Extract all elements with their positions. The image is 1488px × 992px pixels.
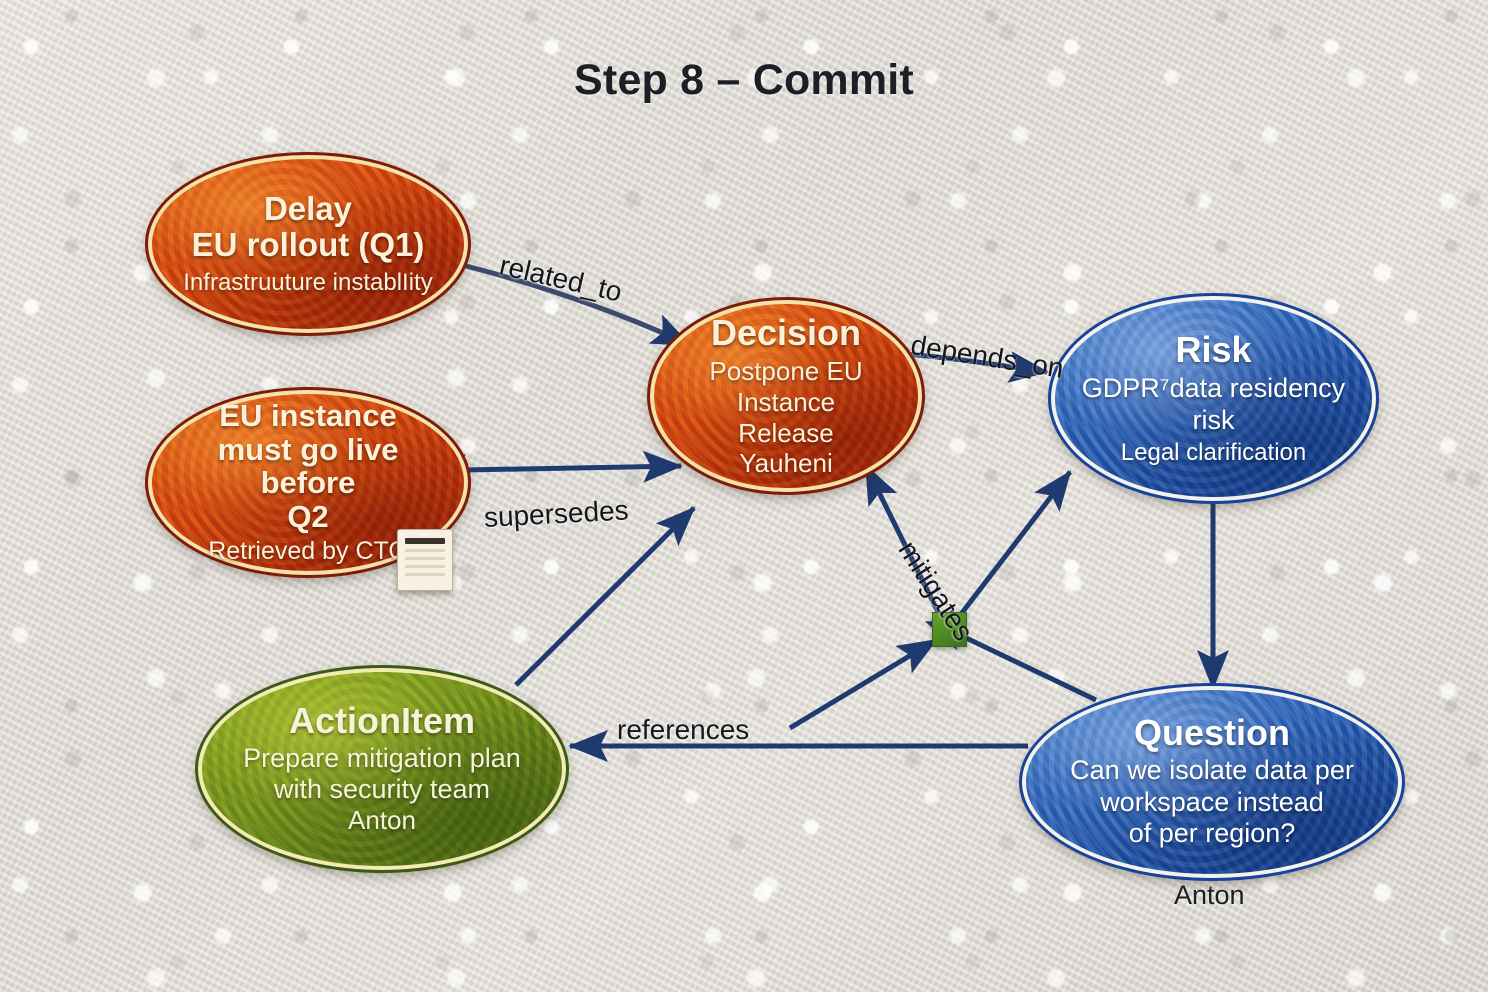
page-title: Step 8 – Commit	[0, 56, 1488, 105]
diagram-canvas: Step 8 – Commit Delay EU rollout (Q1) In…	[0, 0, 1488, 992]
edge-hub-risk	[958, 472, 1070, 618]
edge-label-references: references	[617, 714, 749, 746]
node-eu-instance-title-line2: must go live before	[168, 433, 448, 500]
node-risk-title: Risk	[1175, 331, 1251, 370]
node-action-item-body-line1: Prepare mitigation plan	[243, 743, 521, 775]
node-question-title: Question	[1134, 714, 1290, 753]
document-icon-line	[405, 573, 445, 576]
document-icon-line	[405, 557, 445, 560]
node-risk[interactable]: Risk GDPR⁷data residency risk Legal clar…	[1051, 296, 1376, 501]
node-decision[interactable]: Decision Postpone EU Instance Release Ya…	[650, 300, 922, 492]
node-question-body-line1: Can we isolate data per	[1070, 755, 1354, 787]
document-icon-line	[405, 538, 445, 544]
node-eu-instance-title-line3: Q2	[287, 500, 328, 533]
node-delay-title-line1: Delay	[264, 191, 352, 227]
node-question-caption: Anton	[1174, 880, 1245, 911]
node-risk-body-line1: GDPR⁷data residency	[1082, 373, 1345, 405]
edge-actionitem-hub	[790, 640, 936, 728]
document-icon-line	[405, 565, 445, 568]
node-action-item-body-line2: with security team	[274, 774, 490, 806]
node-decision-meta: Yauheni	[739, 449, 833, 479]
node-delay[interactable]: Delay EU rollout (Q1) Infrastruuture ins…	[148, 155, 468, 333]
node-action-item-meta: Anton	[348, 806, 416, 836]
node-action-item[interactable]: ActionItem Prepare mitigation plan with …	[198, 668, 566, 870]
edge-actionitem-decision	[516, 508, 694, 685]
node-eu-instance-title-line1: EU instance	[219, 399, 396, 432]
document-icon-line	[405, 549, 445, 552]
document-icon[interactable]	[397, 529, 453, 591]
node-question[interactable]: Question Can we isolate data per workspa…	[1022, 686, 1402, 878]
edge-supersedes	[464, 466, 681, 470]
node-risk-meta: Legal clarification	[1121, 439, 1306, 467]
node-action-item-title: ActionItem	[289, 702, 475, 741]
node-delay-title-line2: EU rollout (Q1)	[192, 227, 425, 263]
node-question-body-line3: of per region?	[1129, 818, 1296, 850]
node-question-body-line2: workspace instead	[1100, 787, 1324, 819]
edge-question-hub	[962, 636, 1096, 700]
node-decision-body-line1: Postpone EU Instance	[666, 356, 906, 417]
node-delay-meta: Infrastruuture instablIity	[183, 269, 432, 297]
node-decision-title: Decision	[711, 314, 861, 353]
node-eu-instance-meta: Retrieved by CTO	[208, 537, 408, 566]
node-risk-body-line2: risk	[1193, 405, 1235, 437]
node-decision-body-line2: Release	[738, 418, 833, 449]
